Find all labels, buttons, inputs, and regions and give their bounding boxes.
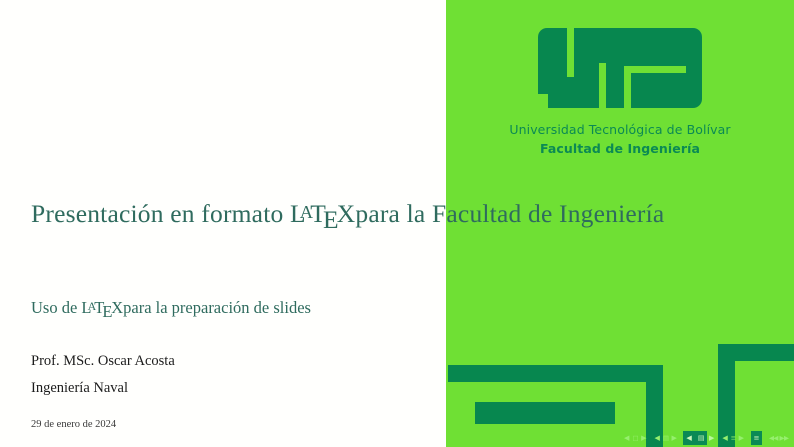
nav-group-frame[interactable]: ◀ ▤ ▶ <box>653 431 678 445</box>
nav-group-subsection[interactable]: ◀ ▤ ▶ <box>683 431 715 445</box>
slide-title: Presentación en formato LATEXpara la Fac… <box>31 199 731 235</box>
nav-group-section[interactable]: ◀ ≡ ▶ <box>721 431 746 445</box>
nav-slide-next-icon[interactable]: ▶ <box>640 431 648 445</box>
nav-section-prev-icon[interactable]: ◀ <box>721 431 729 445</box>
nav-group-presentation[interactable]: ≡ <box>751 431 763 445</box>
university-logo-block: Universidad Tecnológica de Bolívar Facul… <box>446 28 794 156</box>
subtitle-prefix: Uso de <box>31 298 81 317</box>
nav-subsection-next-icon[interactable]: ▶ <box>707 431 715 445</box>
latex-x: X <box>111 298 123 317</box>
nav-frame-next-icon[interactable]: ▶ <box>670 431 678 445</box>
utb-logo-icon <box>538 28 702 108</box>
nav-subsection-label-icon[interactable]: ▤ <box>695 431 708 445</box>
nav-subsection-prev-icon[interactable]: ◀ <box>683 431 694 445</box>
latex-logo-title: LATEX <box>290 199 355 228</box>
nav-frame-label-icon[interactable]: ▤ <box>661 431 670 445</box>
title-suffix: para la Facultad de Ingeniería <box>355 199 664 228</box>
latex-x: X <box>337 199 356 228</box>
nav-section-next-icon[interactable]: ▶ <box>737 431 745 445</box>
nav-group-document[interactable]: ◀◀ ▶▶ <box>767 431 790 445</box>
presentation-slide: Universidad Tecnológica de Bolívar Facul… <box>0 0 794 447</box>
slide-subtitle: Uso de LATEXpara la preparación de slide… <box>31 298 311 322</box>
title-prefix: Presentación en formato <box>31 199 290 228</box>
slide-author: Prof. MSc. Oscar Acosta <box>31 353 175 370</box>
nav-slide-label-icon[interactable]: □ <box>631 431 640 445</box>
nav-document-label-icon[interactable]: ◀◀ ▶▶ <box>767 431 790 445</box>
latex-logo-subtitle: LATEX <box>81 298 123 317</box>
nav-section-label-icon[interactable]: ≡ <box>729 431 737 445</box>
nav-slide-prev-icon[interactable]: ◀ <box>623 431 631 445</box>
decorative-bar-inner <box>475 402 615 424</box>
beamer-navigation-bar[interactable]: ◀ □ ▶ ◀ ▤ ▶ ◀ ▤ ▶ ◀ ≡ ▶ ≡ ◀◀ ▶▶ <box>446 430 794 446</box>
nav-group-slide[interactable]: ◀ □ ▶ <box>623 431 648 445</box>
logo-university-name: Universidad Tecnológica de Bolívar <box>446 122 794 137</box>
slide-institute: Ingeniería Naval <box>31 380 128 397</box>
decorative-bar-left-horizontal <box>448 365 663 382</box>
subtitle-suffix: para la preparación de slides <box>123 298 311 317</box>
nav-presentation-label-icon[interactable]: ≡ <box>751 431 763 445</box>
nav-frame-prev-icon[interactable]: ◀ <box>653 431 661 445</box>
slide-date: 29 de enero de 2024 <box>31 419 116 430</box>
logo-faculty-name: Facultad de Ingeniería <box>446 141 794 156</box>
